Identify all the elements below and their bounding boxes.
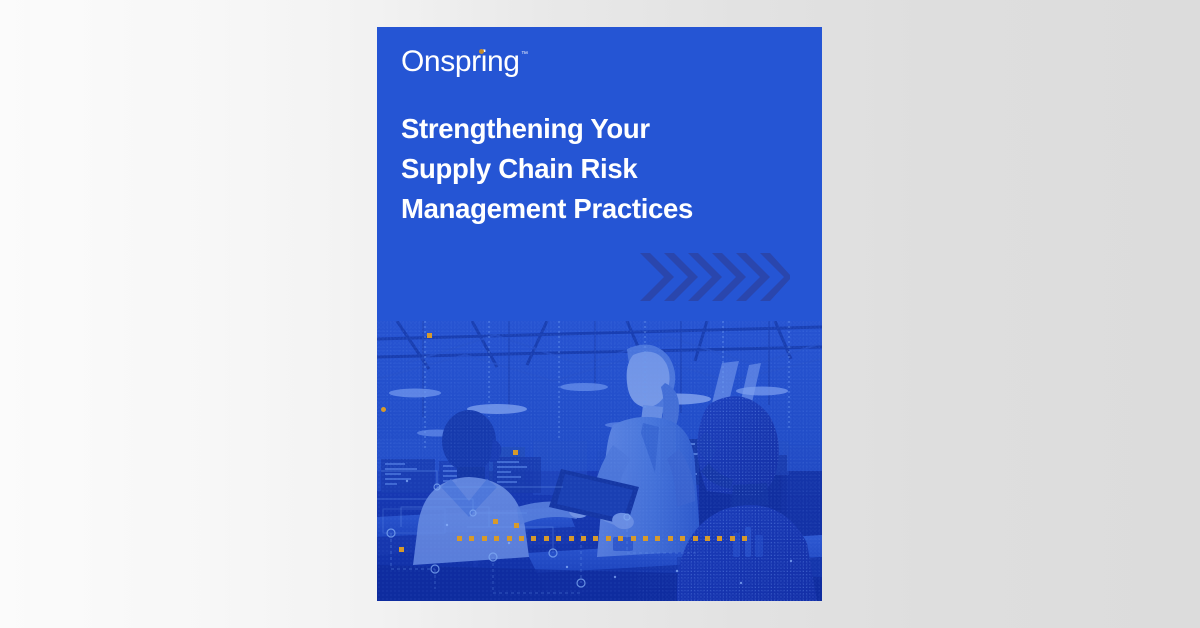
facility-photo-illustration xyxy=(377,321,822,601)
cover-title-line-3: Management Practices xyxy=(401,189,771,229)
page-canvas: Onspring ™ Strengthening Your Supply Cha… xyxy=(0,0,1200,628)
gold-accent-dot xyxy=(493,519,498,524)
logo-wordmark: Onspring xyxy=(401,45,520,79)
cover-photo xyxy=(377,321,822,601)
chevron-arrows-group xyxy=(640,253,790,301)
cover-title: Strengthening Your Supply Chain Risk Man… xyxy=(401,109,771,229)
ebook-cover-card[interactable]: Onspring ™ Strengthening Your Supply Cha… xyxy=(377,27,822,601)
gold-accent-dot xyxy=(513,450,518,455)
gold-accent-dot xyxy=(427,333,432,338)
cover-title-line-1: Strengthening Your xyxy=(401,109,771,149)
gold-accent-dot xyxy=(399,547,404,552)
logo-accent-dot-icon xyxy=(479,49,484,54)
cover-title-line-2: Supply Chain Risk xyxy=(401,149,771,189)
gold-accent-dot xyxy=(514,523,519,528)
logo-trademark: ™ xyxy=(521,51,528,58)
onspring-logo[interactable]: Onspring ™ xyxy=(401,45,520,79)
gold-accent-dot xyxy=(381,407,386,412)
cover-header: Onspring ™ Strengthening Your Supply Cha… xyxy=(377,27,822,321)
chevron-right-icon-set xyxy=(640,253,790,301)
